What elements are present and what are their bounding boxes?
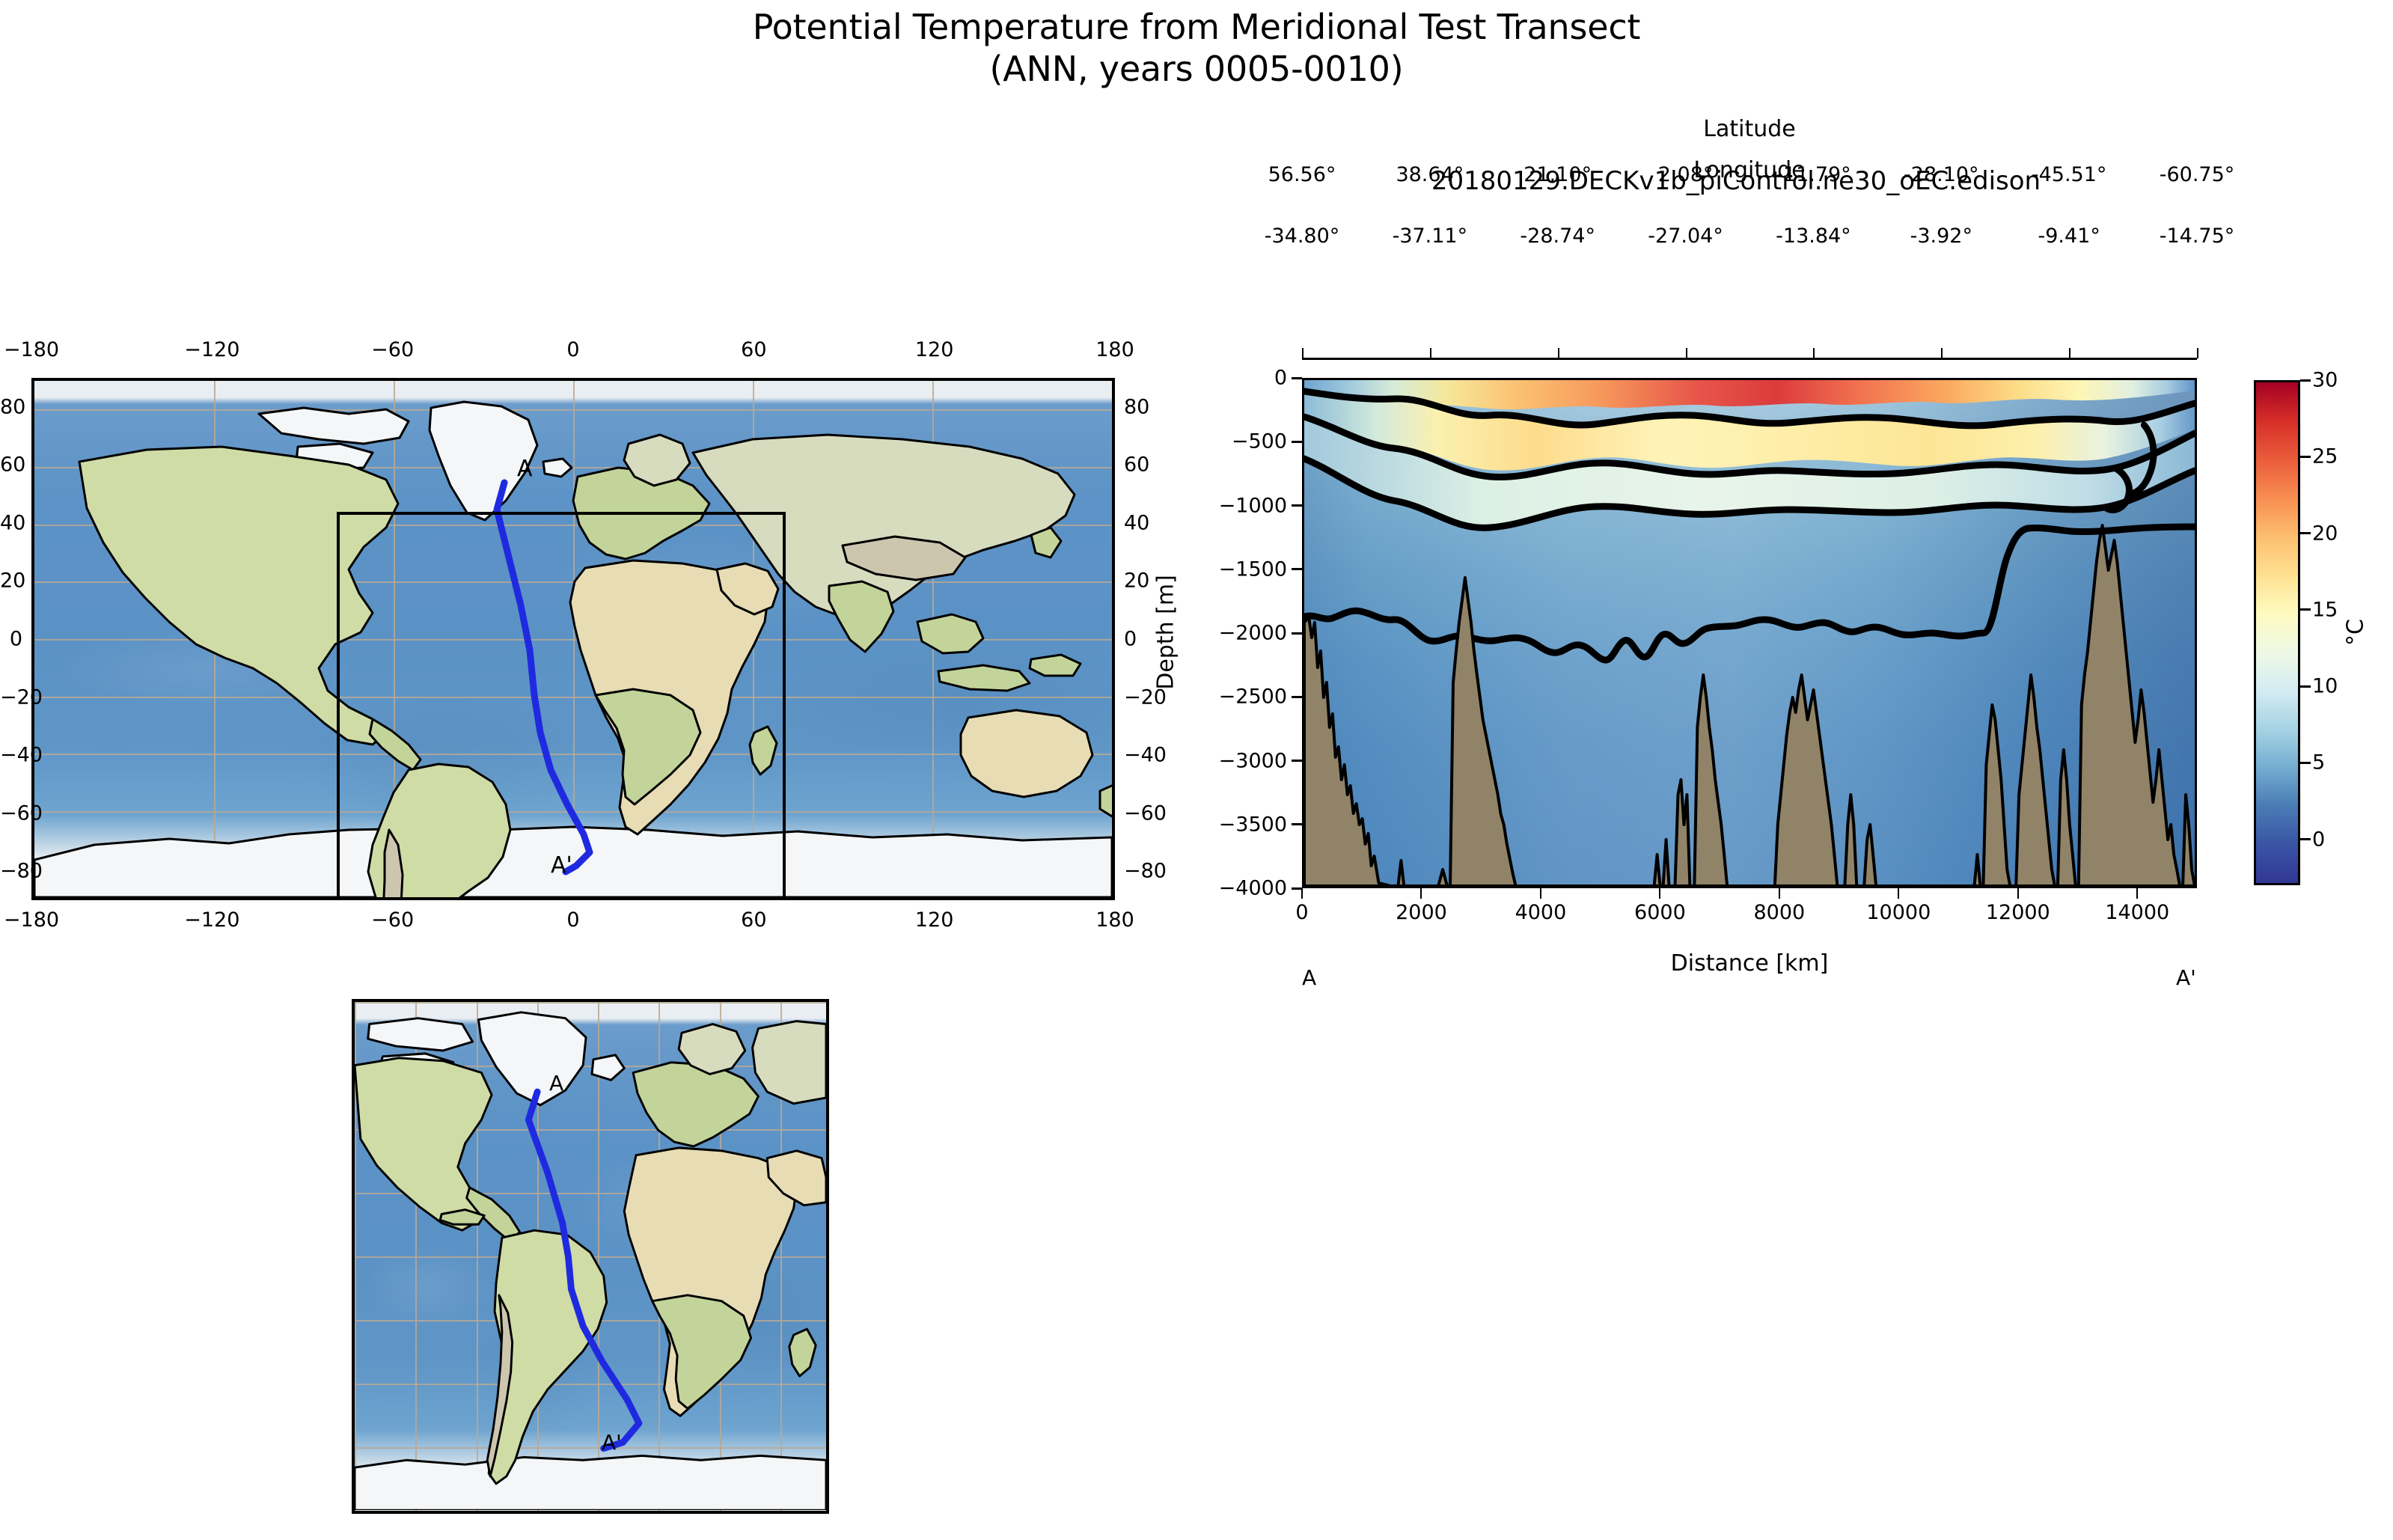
- colorbar-tickmark-30: [2300, 379, 2311, 382]
- depth-tickmark-3: [1292, 568, 1302, 570]
- depth-tick-5: −2500: [1182, 685, 1287, 709]
- latitude-axis-label: Latitude: [1302, 116, 2197, 142]
- map-xtick-top--60: −60: [371, 338, 414, 361]
- water-column: [1304, 380, 2195, 886]
- longitude-tick-7: -14.75°: [2160, 224, 2235, 248]
- transect-path-inset: [355, 1002, 826, 1510]
- colorbar-tickmark-0: [2300, 838, 2311, 840]
- longitude-tick-1: -37.11°: [1393, 224, 1468, 248]
- distance-tickmark-7: [2136, 888, 2138, 899]
- transect-end-label-main: A': [551, 852, 572, 879]
- longitude-tick-2: -28.74°: [1520, 224, 1595, 248]
- colorbar-tick-25: 25: [2312, 445, 2338, 468]
- top-axis-ticks: [1302, 348, 2197, 358]
- distance-tickmark-5: [1898, 888, 1899, 899]
- distance-tick-7: 14000: [2105, 901, 2169, 924]
- transect-start-label-main: A: [517, 456, 533, 482]
- depth-tick-3: −1500: [1182, 557, 1287, 581]
- distance-tick-6: 12000: [1986, 901, 2050, 924]
- distance-axis-label: Distance [km]: [1302, 950, 2197, 977]
- map-ytick-right--60: −60: [1124, 801, 1167, 825]
- map-ytick-left--80: −80: [0, 860, 22, 883]
- map-ytick-left-40: 40: [0, 511, 22, 534]
- colorbar-tick-20: 20: [2312, 522, 2338, 545]
- transect-start-label-inset: A: [549, 1071, 563, 1096]
- colorbar-tick-30: 30: [2312, 369, 2338, 392]
- map-ytick-left-20: 20: [0, 569, 22, 593]
- colorbar-tickmark-5: [2300, 762, 2311, 764]
- distance-tickmark-4: [1779, 888, 1780, 899]
- bathymetry: [1304, 378, 2195, 886]
- distance-tick-2: 4000: [1515, 901, 1567, 924]
- transect-cross-section[interactable]: [1302, 378, 2197, 888]
- map-ytick-right-60: 60: [1124, 453, 1149, 477]
- depth-tick-2: −1000: [1182, 494, 1287, 517]
- depth-tick-7: −3500: [1182, 813, 1287, 836]
- map-ytick-left-80: 80: [0, 395, 22, 418]
- longitude-tick-3: -27.04°: [1648, 224, 1723, 248]
- colorbar-tick-15: 15: [2312, 598, 2338, 621]
- map-ytick-right-80: 80: [1124, 395, 1149, 418]
- depth-tickmark-6: [1292, 760, 1302, 762]
- depth-tickmark-1: [1292, 441, 1302, 443]
- map-ytick-left-0: 0: [0, 628, 22, 651]
- depth-tickmark-7: [1292, 823, 1302, 825]
- longitude-tick-4: -13.84°: [1776, 224, 1851, 248]
- map-xtick-top-120: 120: [915, 338, 954, 361]
- distance-tick-3: 6000: [1634, 901, 1686, 924]
- colorbar-tick-0: 0: [2312, 828, 2325, 851]
- transect-end-label-inset: A': [602, 1430, 622, 1455]
- depth-tick-6: −3000: [1182, 749, 1287, 772]
- inset-map[interactable]: A A': [352, 999, 829, 1514]
- map-xtick-bottom--180: −180: [4, 908, 59, 932]
- longitude-tick-0: -34.80°: [1265, 224, 1340, 248]
- depth-axis-label: Depth [m]: [1153, 575, 1179, 690]
- depth-tickmark-4: [1292, 632, 1302, 635]
- depth-tick-1: −500: [1182, 430, 1287, 453]
- distance-tickmark-6: [2017, 888, 2019, 899]
- depth-tickmark-0: [1292, 377, 1302, 379]
- world-map[interactable]: A A': [31, 378, 1115, 900]
- map-ytick-right-40: 40: [1124, 511, 1149, 534]
- map-xtick-top--120: −120: [184, 338, 239, 361]
- map-xtick-bottom-0: 0: [566, 908, 579, 932]
- map-xtick-bottom-60: 60: [741, 908, 766, 932]
- transect-start-label: A: [1302, 965, 1316, 990]
- map-ytick-right--80: −80: [1124, 860, 1167, 883]
- map-xtick-top-180: 180: [1095, 338, 1134, 361]
- map-ytick-right-20: 20: [1124, 569, 1149, 593]
- colorbar-tickmark-15: [2300, 608, 2311, 611]
- page-title: Potential Temperature from Meridional Te…: [0, 6, 2393, 90]
- depth-tickmark-5: [1292, 696, 1302, 698]
- colorbar-tickmark-10: [2300, 685, 2311, 688]
- colorbar-tick-5: 5: [2312, 751, 2325, 774]
- map-xtick-top--180: −180: [4, 338, 59, 361]
- depth-tick-8: −4000: [1182, 877, 1287, 900]
- depth-tickmark-8: [1292, 887, 1302, 890]
- title-line-2: (ANN, years 0005-0010): [0, 48, 2393, 90]
- map-ytick-left--60: −60: [0, 801, 22, 825]
- longitude-tick-5: -3.92°: [1910, 224, 1972, 248]
- transect-path-main: [34, 381, 1112, 897]
- distance-tick-0: 0: [1295, 901, 1308, 924]
- colorbar[interactable]: [2254, 380, 2300, 885]
- colorbar-unit-label: °C: [2343, 619, 2369, 646]
- map-xtick-bottom--60: −60: [371, 908, 414, 932]
- distance-tickmark-1: [1420, 888, 1422, 899]
- colorbar-tickmark-25: [2300, 456, 2311, 458]
- map-xtick-bottom-180: 180: [1095, 908, 1134, 932]
- map-ytick-right-0: 0: [1124, 628, 1137, 651]
- distance-tickmark-3: [1659, 888, 1660, 899]
- map-ytick-left--40: −40: [0, 744, 22, 767]
- transect-end-label: A': [2176, 965, 2196, 990]
- map-xtick-top-60: 60: [741, 338, 766, 361]
- distance-tick-4: 8000: [1754, 901, 1806, 924]
- distance-tick-5: 10000: [1866, 901, 1931, 924]
- longitude-tick-6: -9.41°: [2038, 224, 2100, 248]
- map-ytick-left--20: −20: [0, 685, 22, 709]
- depth-tickmark-2: [1292, 504, 1302, 507]
- title-line-1: Potential Temperature from Meridional Te…: [753, 7, 1641, 47]
- map-xtick-bottom--120: −120: [184, 908, 239, 932]
- map-ytick-right--40: −40: [1124, 744, 1167, 767]
- distance-tick-1: 2000: [1396, 901, 1447, 924]
- colorbar-tick-10: 10: [2312, 675, 2338, 698]
- depth-tick-4: −2000: [1182, 622, 1287, 645]
- map-ytick-left-60: 60: [0, 453, 22, 477]
- map-xtick-top-0: 0: [566, 338, 579, 361]
- colorbar-tickmark-20: [2300, 532, 2311, 534]
- distance-tickmark-2: [1540, 888, 1541, 899]
- distance-tickmark-0: [1301, 888, 1303, 899]
- depth-tick-0: 0: [1182, 367, 1287, 390]
- longitude-axis-label: Longitude: [1302, 157, 2197, 183]
- colorbar-gradient: [2256, 382, 2298, 883]
- map-xtick-bottom-120: 120: [915, 908, 954, 932]
